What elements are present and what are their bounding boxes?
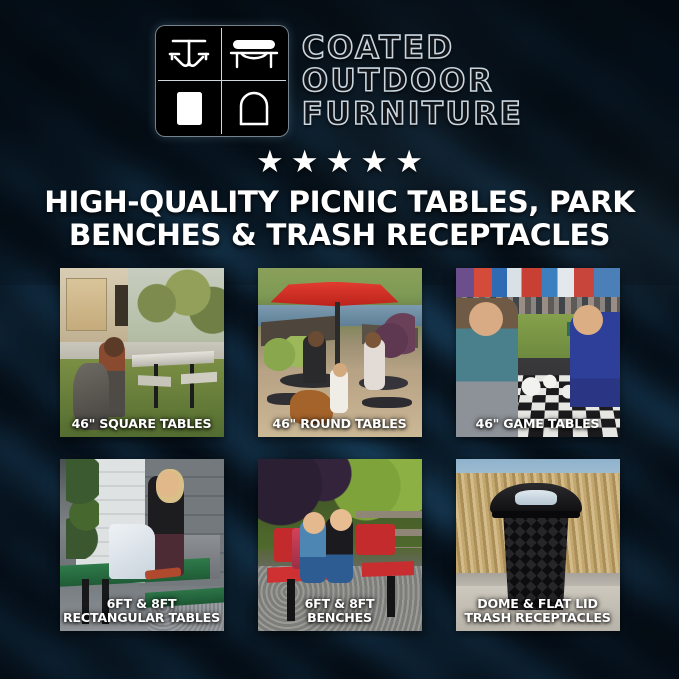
product-card-round-tables[interactable]: 46" ROUND TABLES xyxy=(258,268,422,437)
headline: HIGH-QUALITY PICNIC TABLES, PARK BENCHES… xyxy=(40,186,640,252)
poster-content: COATED OUTDOOR FURNITURE ★ ★ ★ ★ ★ HIGH-… xyxy=(0,0,679,679)
product-card-caption: 46" ROUND TABLES xyxy=(261,417,419,431)
brand-word-2: OUTDOOR xyxy=(302,66,524,98)
headline-line-1: HIGH-QUALITY PICNIC TABLES, PARK xyxy=(44,185,634,219)
caption-line-2: BENCHES xyxy=(261,611,419,625)
product-card-trash-receptacles[interactable]: DOME & FLAT LID TRASH RECEPTACLES xyxy=(456,459,620,631)
caption-line-1: 46" SQUARE TABLES xyxy=(63,417,221,431)
picnic-table-icon xyxy=(158,28,222,81)
caption-line-1: 46" GAME TABLES xyxy=(459,417,617,431)
star-rating: ★ ★ ★ ★ ★ xyxy=(256,146,423,177)
caption-line-2: TRASH RECEPTACLES xyxy=(459,611,617,625)
product-photo-square-tables xyxy=(60,268,224,437)
caption-line-1: 46" ROUND TABLES xyxy=(261,417,419,431)
product-card-game-tables[interactable]: 46" GAME TABLES xyxy=(456,268,620,437)
product-photo-game-tables xyxy=(456,268,620,437)
product-card-caption: 46" GAME TABLES xyxy=(459,417,617,431)
bench-icon xyxy=(222,28,286,81)
product-card-caption: 6FT & 8FT RECTANGULAR TABLES xyxy=(63,597,221,625)
product-card-caption: DOME & FLAT LID TRASH RECEPTACLES xyxy=(459,597,617,625)
brand-word-3: FURNITURE xyxy=(302,99,524,131)
star-icon-4: ★ xyxy=(360,146,388,177)
product-card-square-tables[interactable]: 46" SQUARE TABLES xyxy=(60,268,224,437)
star-icon-2: ★ xyxy=(291,146,319,177)
product-card-rectangular-tables[interactable]: 6FT & 8FT RECTANGULAR TABLES xyxy=(60,459,224,631)
brand-word-1: COATED xyxy=(302,33,524,65)
star-icon-3: ★ xyxy=(326,146,354,177)
headline-line-2: BENCHES & TRASH RECEPTACLES xyxy=(40,219,640,252)
logo-mark xyxy=(156,26,288,136)
caption-line-2: RECTANGULAR TABLES xyxy=(63,611,221,625)
product-card-grid: 46" SQUARE TABLES 46" ROUND TABLES xyxy=(60,268,620,631)
brand-logo: COATED OUTDOOR FURNITURE xyxy=(156,26,524,136)
product-card-caption: 46" SQUARE TABLES xyxy=(63,417,221,431)
trash-receptacle-icon xyxy=(158,81,222,134)
product-photo-round-tables xyxy=(258,268,422,437)
brand-wordmark: COATED OUTDOOR FURNITURE xyxy=(302,31,524,131)
star-icon-1: ★ xyxy=(256,146,284,177)
star-icon-5: ★ xyxy=(395,146,423,177)
product-card-benches[interactable]: 6FT & 8FT BENCHES xyxy=(258,459,422,631)
product-card-caption: 6FT & 8FT BENCHES xyxy=(261,597,419,625)
poster: COATED OUTDOOR FURNITURE ★ ★ ★ ★ ★ HIGH-… xyxy=(0,0,679,679)
bike-rack-icon xyxy=(222,81,286,134)
